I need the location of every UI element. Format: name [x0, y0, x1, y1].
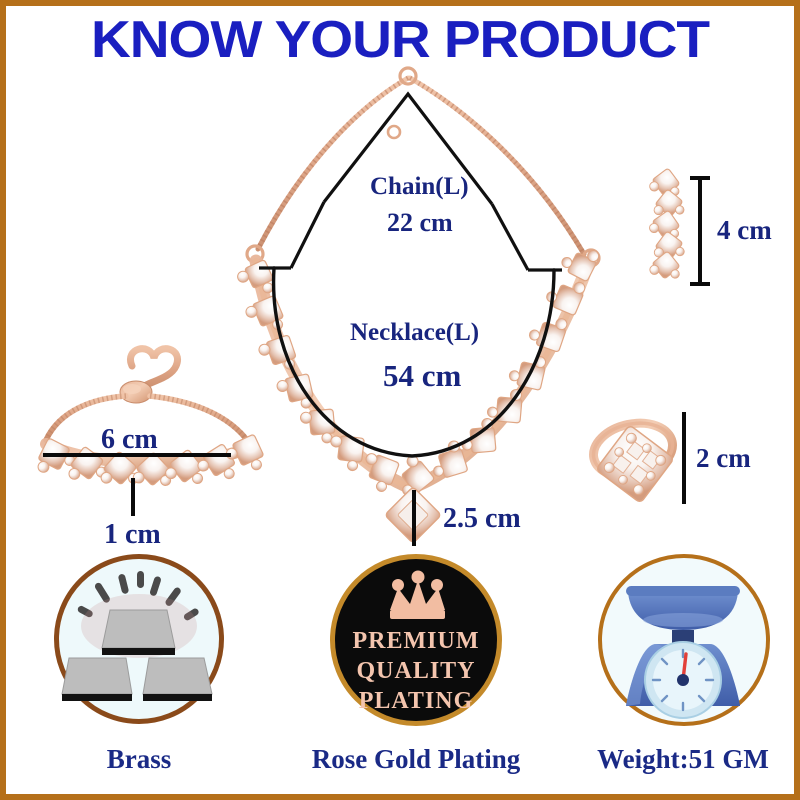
- plating-stamp-line-3: PLATING: [330, 688, 502, 715]
- earring-measure-cap-top: [690, 176, 710, 180]
- ring-measure-line: [682, 412, 686, 504]
- pendant-length-value: 2.5 cm: [443, 503, 521, 535]
- chain-length-label: Chain(L): [370, 173, 469, 201]
- bracelet-width-line: [131, 478, 135, 516]
- plating-stamp-line-1: PREMIUM: [330, 628, 502, 655]
- plating-stamp-line-2: QUALITY: [330, 658, 502, 685]
- earring-measure-cap-bottom: [690, 282, 710, 286]
- weight-badge-caption: Weight:51 GM: [578, 744, 788, 775]
- pendant-measure-line: [412, 490, 416, 546]
- necklace-length-value: 54 cm: [383, 358, 461, 394]
- badge-brass: Brass: [44, 554, 234, 794]
- badge-weight: Weight:51 GM: [578, 554, 788, 794]
- earring-crystals: [648, 166, 685, 281]
- ring-svg: [581, 404, 691, 509]
- bracelet-width-value: 1 cm: [104, 519, 161, 551]
- metal-bars-icon: [44, 554, 234, 729]
- ring-size-value: 2 cm: [696, 443, 751, 474]
- bracelet-length-value: 6 cm: [101, 424, 158, 456]
- kitchen-scale-icon: [578, 554, 788, 730]
- earring-measure-line: [698, 176, 702, 286]
- brass-badge-caption: Brass: [44, 744, 234, 775]
- earring-svg: [636, 166, 726, 286]
- infographic-page: KNOW YOUR PRODUCT: [0, 0, 800, 800]
- crystal-ring: [581, 404, 691, 509]
- necklace-length-label: Necklace(L): [350, 319, 479, 347]
- plating-badge-caption: Rose Gold Plating: [306, 744, 526, 775]
- badge-plating: PREMIUM QUALITY PLATING Rose Gold Platin…: [306, 554, 526, 794]
- chain-length-value: 22 cm: [387, 208, 453, 238]
- crystal-earring: [636, 166, 726, 286]
- earring-length-value: 4 cm: [717, 215, 772, 246]
